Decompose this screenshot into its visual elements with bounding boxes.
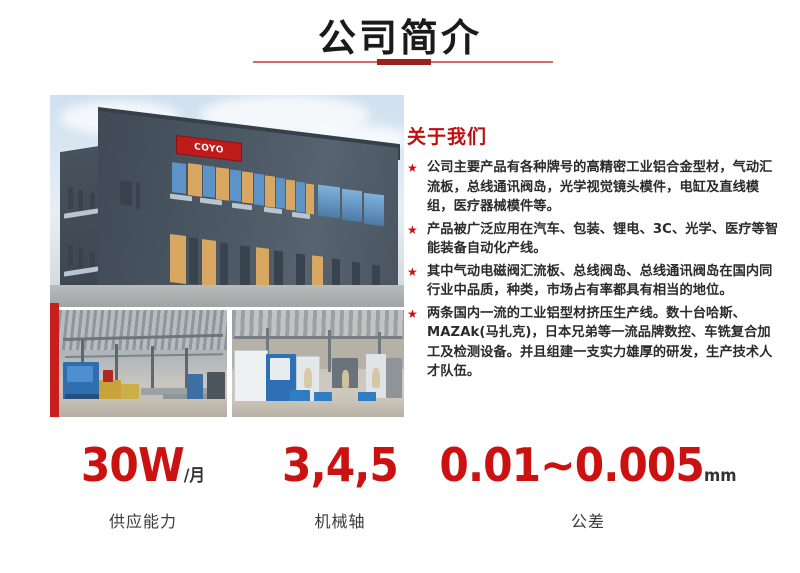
stat-value: 3,4,5 (282, 438, 398, 492)
list-item-text: 两条国内一流的工业铝型材挤压生产线。数十台哈斯、MAZAk(马扎克)，日本兄弟等… (427, 306, 772, 380)
stat-caption: 机械轴 (250, 508, 430, 532)
red-accent-bar (50, 303, 59, 417)
stat-value-wrap: 30W/月 (37, 440, 249, 501)
page-title-block: 公司简介 (0, 18, 800, 60)
stat-value: 0.01~0.005 (439, 438, 704, 492)
title-underline (253, 58, 553, 66)
stat-value: 30W (81, 438, 184, 492)
stat-value-wrap: 0.01~0.005mm (432, 440, 745, 501)
about-bullet-list: ★ 公司主要产品有各种牌号的高精密工业铝合金型材，气动汇流板，总线通讯阀岛，光学… (407, 158, 779, 382)
building-logo-text: COYO (194, 142, 224, 156)
stats-row: 30W/月 供应能力 3,4,5 机械轴 0.01~0.005mm 公差 (0, 440, 800, 545)
stat-item: 3,4,5 机械轴 (250, 440, 430, 532)
workshop-photo-right (232, 310, 404, 417)
list-item: ★ 公司主要产品有各种牌号的高精密工业铝合金型材，气动汇流板，总线通讯阀岛，光学… (407, 158, 779, 217)
stat-caption: 公差 (418, 508, 758, 532)
list-item-text: 其中气动电磁阀汇流板、总线阀岛、总线通讯阀岛在国内同行业中品质，种类，市场占有率… (427, 264, 772, 299)
stat-unit: /月 (184, 466, 205, 486)
star-icon: ★ (407, 221, 418, 240)
list-item: ★ 产品被广泛应用在汽车、包装、锂电、3C、光学、医疗等智能装备自动化产线。 (407, 220, 779, 259)
stat-item: 0.01~0.005mm 公差 (418, 440, 758, 532)
stat-unit: mm (704, 466, 737, 486)
workshop-photo-row (50, 310, 404, 417)
star-icon: ★ (407, 263, 418, 282)
about-section: 关于我们 ★ 公司主要产品有各种牌号的高精密工业铝合金型材，气动汇流板，总线通讯… (407, 122, 779, 385)
star-icon: ★ (407, 305, 418, 324)
star-icon: ★ (407, 159, 418, 178)
list-item: ★ 两条国内一流的工业铝型材挤压生产线。数十台哈斯、MAZAk(马扎克)，日本兄… (407, 304, 779, 382)
photo-gallery: COYO (50, 95, 404, 417)
list-item-text: 公司主要产品有各种牌号的高精密工业铝合金型材，气动汇流板，总线通讯阀岛，光学视觉… (427, 160, 772, 214)
stat-caption: 供应能力 (28, 508, 258, 532)
workshop-photo-left (59, 310, 227, 417)
about-heading: 关于我们 (407, 122, 779, 149)
title-underline-thick (377, 59, 431, 65)
stat-item: 30W/月 供应能力 (28, 440, 258, 532)
list-item: ★ 其中气动电磁阀汇流板、总线阀岛、总线通讯阀岛在国内同行业中品质，种类，市场占… (407, 262, 779, 301)
company-profile-page: 公司简介 (0, 0, 800, 573)
page-title: 公司简介 (0, 18, 800, 60)
stat-value-wrap: 3,4,5 (257, 440, 423, 501)
building-photo: COYO (50, 95, 404, 307)
list-item-text: 产品被广泛应用在汽车、包装、锂电、3C、光学、医疗等智能装备自动化产线。 (427, 222, 778, 257)
building-foreground (50, 285, 404, 307)
